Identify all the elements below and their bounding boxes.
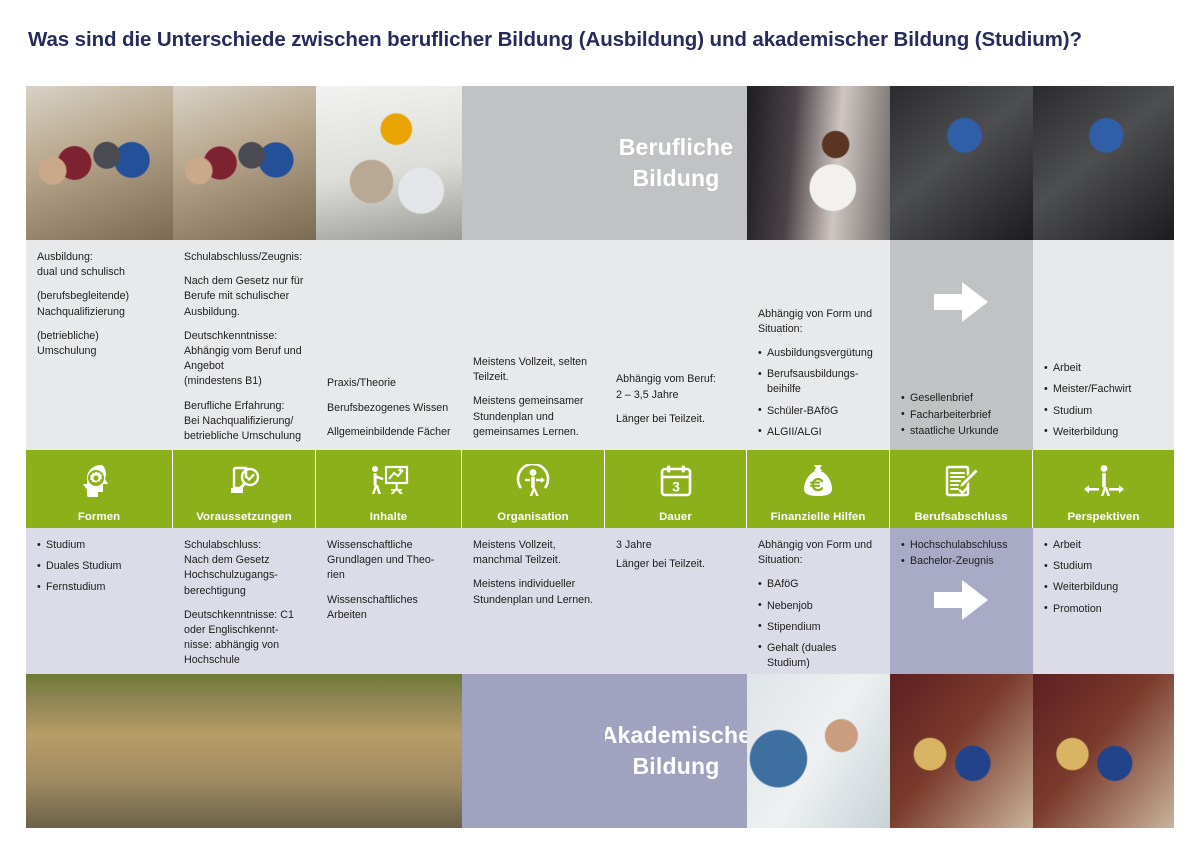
seminar-classroom-photo bbox=[316, 86, 462, 240]
cell-vocational-organisation: Meistens Vollzeit, selten Teilzeit. Meis… bbox=[462, 240, 605, 450]
category-label: Finanzielle Hilfen bbox=[771, 511, 866, 523]
text-line: Meistens individueller Stundenplan und L… bbox=[473, 578, 593, 605]
category-finanzielle-hilfen[interactable]: Finanzielle Hilfen bbox=[747, 450, 890, 528]
lecture-hall-photo-3 bbox=[316, 674, 462, 828]
text-line: (betriebliche)Umschulung bbox=[37, 330, 99, 357]
person-circle-arrow-icon bbox=[462, 450, 604, 511]
category-organisation[interactable]: Organisation bbox=[462, 450, 605, 528]
academic-banner-line1: Akademische bbox=[605, 722, 747, 748]
list-item: Studium bbox=[37, 538, 163, 553]
list-item: Arbeit bbox=[1044, 361, 1164, 376]
text-line: Länger bei Teilzeit. bbox=[616, 558, 705, 570]
cell-vocational-dauer: Abhängig vom Beruf:2 – 3,5 Jahre Länger … bbox=[605, 240, 747, 450]
text-line: Abhängig vom Beruf:2 – 3,5 Jahre bbox=[616, 373, 716, 400]
retail-apprentice-photo bbox=[747, 86, 890, 240]
academic-text-row: Studium Duales Studium Fernstudium Schul… bbox=[26, 528, 1174, 674]
category-label: Inhalte bbox=[370, 511, 407, 523]
text-line: Wissenschaftliche Grundlagen und Theo- r… bbox=[327, 539, 434, 581]
list-item: Studium bbox=[1044, 404, 1164, 419]
category-formen[interactable]: Formen bbox=[26, 450, 173, 528]
category-label: Voraussetzungen bbox=[196, 511, 292, 523]
list-item: Duales Studium bbox=[37, 559, 163, 574]
teacher-whiteboard-icon bbox=[316, 450, 461, 511]
list-item: staatliche Urkunde bbox=[901, 424, 1023, 439]
text-line: Ausbildung:dual und schulisch bbox=[37, 251, 125, 278]
text-line: Berufsbezogenes Wissen bbox=[327, 402, 448, 414]
cell-academic-berufsabschluss: Hochschulabschluss Bachelor-Zeugnis bbox=[890, 528, 1033, 674]
bullet-list: Gesellenbrief Facharbeiterbrief staatlic… bbox=[901, 391, 1023, 440]
category-voraussetzungen[interactable]: Voraussetzungen bbox=[173, 450, 316, 528]
list-item: Bachelor-Zeugnis bbox=[901, 554, 1023, 569]
list-item: Gesellenbrief bbox=[901, 391, 1023, 406]
cell-academic-inhalte: Wissenschaftliche Grundlagen und Theo- r… bbox=[316, 528, 462, 674]
category-berufsabschluss[interactable]: Berufsabschluss bbox=[890, 450, 1033, 528]
lecture-hall-photo bbox=[26, 674, 173, 828]
bullet-list: Studium Duales Studium Fernstudium bbox=[37, 538, 163, 596]
document-magnifier-check-icon bbox=[173, 450, 315, 511]
vocational-photo-row: Berufliche Bildung bbox=[26, 86, 1174, 240]
academic-banner-left bbox=[462, 674, 605, 828]
list-item: Arbeit bbox=[1044, 538, 1164, 553]
text-line: Länger bei Teilzeit. bbox=[616, 413, 705, 425]
svg-text:3: 3 bbox=[672, 478, 680, 494]
vocational-banner-line1: Berufliche bbox=[619, 134, 733, 160]
category-inhalte[interactable]: Inhalte bbox=[316, 450, 462, 528]
vocational-text-row: Ausbildung:dual und schulisch (berufsbeg… bbox=[26, 240, 1174, 450]
bullet-list: BAföG Nebenjob Stipendium Gehalt (duales… bbox=[758, 577, 880, 671]
comparison-board: Berufliche Bildung Ausbildung:dual und s… bbox=[26, 86, 1174, 828]
category-label: Berufsabschluss bbox=[914, 511, 1007, 523]
list-item: Stipendium bbox=[758, 620, 880, 635]
list-item: Fernstudium bbox=[37, 580, 163, 595]
list-item: Berufsausbildungs- beihilfe bbox=[758, 367, 880, 397]
text-line: Meistens Vollzeit, selten Teilzeit. bbox=[473, 356, 587, 383]
page-title: Was sind die Unterschiede zwischen beruf… bbox=[28, 28, 1178, 52]
category-label: Organisation bbox=[497, 511, 568, 523]
cell-vocational-formen: Ausbildung:dual und schulisch (berufsbeg… bbox=[26, 240, 173, 450]
study-group-photo bbox=[890, 674, 1033, 828]
certificate-pencil-icon bbox=[890, 450, 1032, 511]
cell-vocational-voraussetzungen: Schulabschluss/Zeugnis: Nach dem Gesetz … bbox=[173, 240, 316, 450]
bullet-list: Arbeit Meister/Fachwirt Studium Weiterbi… bbox=[1044, 361, 1164, 440]
lecture-hall-photo-2 bbox=[173, 674, 316, 828]
category-perspektiven[interactable]: Perspektiven bbox=[1033, 450, 1174, 528]
calendar-3-icon: 3 bbox=[605, 450, 746, 511]
text-line: Deutschkenntnisse:Abhängig vom Beruf und… bbox=[184, 330, 302, 388]
text-line: Abhängig von Form und Situation: bbox=[758, 539, 872, 566]
vocational-banner-line2: Bildung bbox=[632, 165, 719, 191]
list-item: Gehalt (duales Studium) bbox=[758, 641, 880, 671]
text-line: Schulabschluss/Zeugnis: bbox=[184, 251, 302, 263]
text-line: Allgemeinbildende Fächer bbox=[327, 426, 451, 438]
cell-academic-organisation: Meistens Vollzeit, manchmal Teilzeit. Me… bbox=[462, 528, 605, 674]
cell-vocational-perspektiven: Arbeit Meister/Fachwirt Studium Weiterbi… bbox=[1033, 240, 1174, 450]
bullet-list: Arbeit Studium Weiterbildung Promotion bbox=[1044, 538, 1164, 617]
cell-academic-formen: Studium Duales Studium Fernstudium bbox=[26, 528, 173, 674]
list-item: Hochschulabschluss bbox=[901, 538, 1023, 553]
text-line: Meistens gemeinsamer Stundenplan und gem… bbox=[473, 395, 583, 437]
money-bag-euro-icon bbox=[747, 450, 889, 511]
study-group-photo-2 bbox=[1033, 674, 1174, 828]
list-item: BAföG bbox=[758, 577, 880, 592]
category-label: Perspektiven bbox=[1067, 511, 1139, 523]
progress-arrow-icon bbox=[890, 580, 1033, 620]
category-dauer[interactable]: 3 Dauer bbox=[605, 450, 747, 528]
cell-academic-finanzielle-hilfen: Abhängig von Form und Situation: BAföG N… bbox=[747, 528, 890, 674]
list-item: Studium bbox=[1044, 559, 1164, 574]
text-line: Schulabschluss:Nach dem Gesetz Hochschul… bbox=[184, 539, 278, 597]
cell-academic-voraussetzungen: Schulabschluss:Nach dem Gesetz Hochschul… bbox=[173, 528, 316, 674]
infographic-page: Was sind die Unterschiede zwischen beruf… bbox=[0, 0, 1200, 849]
workshop-training-photo-2 bbox=[173, 86, 316, 240]
category-label: Dauer bbox=[659, 511, 692, 523]
workshop-training-photo bbox=[26, 86, 173, 240]
cell-vocational-inhalte: Praxis/Theorie Berufsbezogenes Wissen Al… bbox=[316, 240, 462, 450]
bullet-list: Hochschulabschluss Bachelor-Zeugnis bbox=[901, 538, 1023, 570]
progress-arrow-icon bbox=[890, 282, 1033, 322]
category-label: Formen bbox=[78, 511, 120, 523]
text-line: Wissenschaftliches Arbeiten bbox=[327, 594, 418, 621]
text-line: 3 Jahre bbox=[616, 539, 652, 551]
text-line: Berufliche Erfahrung:Bei Nachqualifizier… bbox=[184, 400, 301, 442]
factory-worker-photo bbox=[890, 86, 1033, 240]
academic-banner: Akademische Bildung bbox=[605, 674, 747, 828]
list-item: Meister/Fachwirt bbox=[1044, 382, 1164, 397]
cell-academic-perspektiven: Arbeit Studium Weiterbildung Promotion bbox=[1033, 528, 1174, 674]
text-line: Meistens Vollzeit, manchmal Teilzeit. bbox=[473, 539, 561, 566]
list-item: Facharbeiterbrief bbox=[901, 408, 1023, 423]
list-item: Schüler-BAföG bbox=[758, 404, 880, 419]
bullet-list: Ausbildungsvergütung Berufsausbildungs- … bbox=[758, 346, 880, 440]
head-gear-icon bbox=[26, 450, 172, 511]
vocational-banner-left bbox=[462, 86, 605, 240]
list-item: Promotion bbox=[1044, 602, 1164, 617]
list-item: Nebenjob bbox=[758, 599, 880, 614]
academic-banner-line2: Bildung bbox=[633, 753, 720, 779]
person-arrows-icon bbox=[1033, 450, 1174, 511]
text-line: Nach dem Gesetz nur für Berufe mit schul… bbox=[184, 275, 303, 317]
vocational-banner: Berufliche Bildung bbox=[605, 86, 747, 240]
list-item: Weiterbildung bbox=[1044, 425, 1164, 440]
list-item: Ausbildungsvergütung bbox=[758, 346, 880, 361]
text-line: (berufsbegleitende)Nachqualifizierung bbox=[37, 290, 129, 317]
text-line: Deutschkenntnisse: C1 oder Englischkennt… bbox=[184, 609, 294, 667]
category-icon-row: Formen Voraussetzungen bbox=[26, 450, 1174, 528]
cell-academic-dauer: 3 Jahre Länger bei Teilzeit. bbox=[605, 528, 747, 674]
text-line: Abhängig von Form und Situation: bbox=[758, 308, 872, 335]
list-item: ALGII/ALGI bbox=[758, 425, 880, 440]
cell-vocational-finanzielle-hilfen: Abhängig von Form und Situation: Ausbild… bbox=[747, 240, 890, 450]
academic-photo-row: Akademische Bildung bbox=[26, 674, 1174, 828]
list-item: Weiterbildung bbox=[1044, 580, 1164, 595]
medical-students-photo bbox=[747, 674, 890, 828]
cell-vocational-berufsabschluss: Gesellenbrief Facharbeiterbrief staatlic… bbox=[890, 240, 1033, 450]
factory-worker-photo-2 bbox=[1033, 86, 1174, 240]
text-line: Praxis/Theorie bbox=[327, 377, 396, 389]
